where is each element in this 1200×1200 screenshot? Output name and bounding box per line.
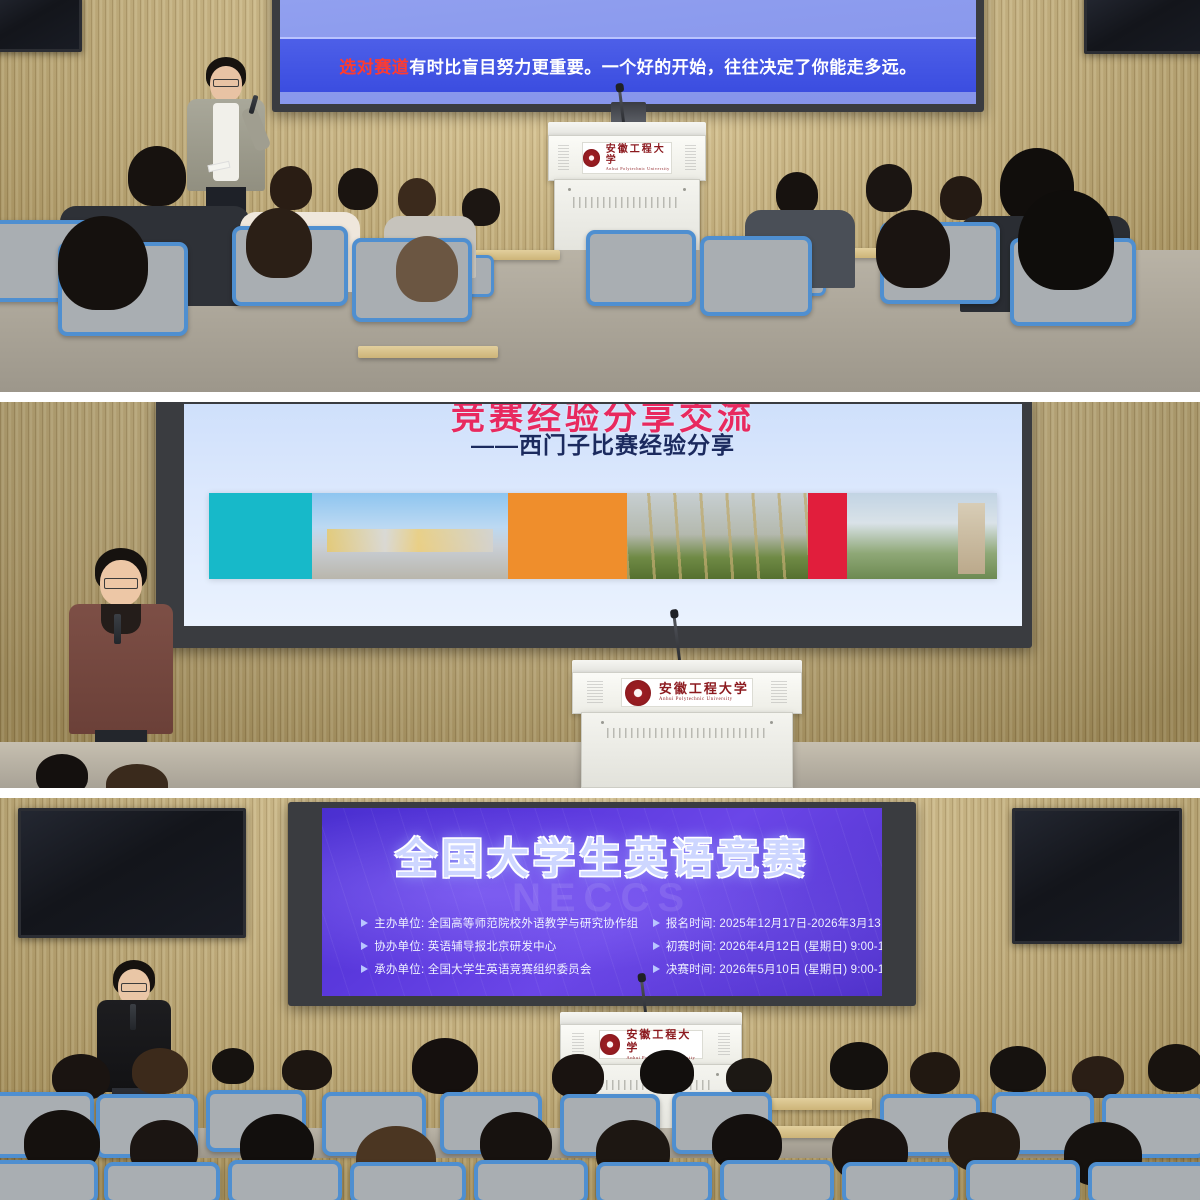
info-line: 报名时间: 2025年12月17日-2026年3月13日	[653, 915, 882, 931]
audience-panel3	[0, 1034, 1200, 1200]
podium-laptop	[611, 102, 646, 122]
audience-panel1	[0, 150, 1200, 392]
projector-screen-frame: 避免过热赛道，寻找 "蓝海" 机会点 考虑项目是否可持续，能否转化为毕 业设计、…	[272, 0, 984, 112]
projector-screen: NECCS 全国大学生英语竞赛 主办单位: 全国高等师范院校外语教学与研究协作组…	[322, 808, 882, 996]
seat	[228, 1160, 342, 1200]
audience-head	[128, 146, 186, 206]
audience-head	[940, 176, 982, 220]
strip-block-red	[808, 493, 847, 580]
seat	[586, 230, 696, 306]
presenter-glasses-icon	[121, 983, 147, 992]
audience-head	[398, 178, 436, 218]
seat	[350, 1162, 466, 1200]
audience-head	[876, 210, 950, 288]
seat	[842, 1162, 958, 1200]
slide-english-competition: NECCS 全国大学生英语竞赛 主办单位: 全国高等师范院校外语教学与研究协作组…	[322, 808, 882, 996]
panel-divider	[0, 788, 1200, 798]
strip-photo-campus-gate	[312, 493, 509, 580]
microphone-icon	[130, 1004, 136, 1030]
audience-head	[246, 208, 312, 278]
audience-head	[640, 1050, 694, 1094]
university-seal-icon	[625, 680, 651, 706]
photo-collage: 避免过热赛道，寻找 "蓝海" 机会点 考虑项目是否可持续，能否转化为毕 业设计、…	[0, 0, 1200, 1200]
university-name-en: Anhui Polytechnic University	[659, 697, 749, 703]
info-text: 承办单位: 全国大学生英语竞赛组织委员会	[374, 961, 591, 977]
campus-photo-strip	[209, 493, 997, 580]
podium-speaker-right	[771, 681, 787, 704]
projector-screen-frame: NECCS 全国大学生英语竞赛 主办单位: 全国高等师范院校外语教学与研究协作组…	[288, 802, 916, 1006]
slide-info-block: 主办单位: 全国高等师范院校外语教学与研究协作组 协办单位: 英语辅导报北京研发…	[361, 915, 843, 977]
strip-photo-bamboo	[627, 493, 808, 580]
slide-banner-highlight: 选对赛道	[339, 58, 409, 77]
seat	[700, 236, 812, 316]
podium-panel2: 安徽工程大学 Anhui Polytechnic University	[572, 660, 802, 788]
audience-head	[830, 1042, 888, 1090]
seat	[720, 1160, 834, 1200]
projector-screen-frame: 竞赛经验分享交流 ——西门子比赛经验分享	[156, 402, 1032, 648]
strip-photo-building	[847, 493, 997, 580]
audience-head	[338, 168, 378, 210]
seat	[1088, 1162, 1200, 1200]
slide-banner-text: 选对赛道有时比盲目努力更重要。一个好的开始，往往决定了你能走多远。	[339, 53, 917, 78]
presenter-glasses-icon	[104, 578, 138, 589]
audience-head	[212, 1048, 254, 1084]
triangle-right-icon	[361, 919, 368, 927]
audience-head	[1018, 190, 1114, 290]
slide-entrepreneurship: 避免过热赛道，寻找 "蓝海" 机会点 考虑项目是否可持续，能否转化为毕 业设计、…	[280, 0, 976, 104]
microphone-icon	[114, 614, 121, 644]
projector-screen: 竞赛经验分享交流 ——西门子比赛经验分享	[184, 404, 1022, 626]
podium-cabinet	[581, 712, 793, 788]
panel-english-competition: NECCS 全国大学生英语竞赛 主办单位: 全国高等师范院校外语教学与研究协作组…	[0, 798, 1200, 1200]
podium-nameplate: 安徽工程大学 Anhui Polytechnic University	[621, 678, 753, 707]
info-text: 主办单位: 全国高等师范院校外语教学与研究协作组	[374, 915, 638, 931]
info-text: 协办单位: 英语辅导报北京研发中心	[374, 938, 556, 954]
seat	[104, 1162, 220, 1200]
presenter-glasses-icon	[213, 79, 239, 87]
seat	[474, 1160, 588, 1200]
slide-siemens: 竞赛经验分享交流 ——西门子比赛经验分享	[184, 404, 1022, 626]
info-text: 决赛时间: 2026年5月10日 (星期日) 9:00-11:00	[666, 961, 882, 977]
panel-entrepreneurship-lecture: 避免过热赛道，寻找 "蓝海" 机会点 考虑项目是否可持续，能否转化为毕 业设计、…	[0, 0, 1200, 392]
triangle-right-icon	[653, 919, 660, 927]
side-monitor-left	[18, 808, 246, 938]
audience-head	[1148, 1044, 1200, 1092]
projector-screen: 避免过热赛道，寻找 "蓝海" 机会点 考虑项目是否可持续，能否转化为毕 业设计、…	[280, 0, 976, 104]
slide-title: 全国大学生英语竞赛	[322, 825, 882, 886]
audience-head	[726, 1058, 772, 1096]
slide-banner: 选对赛道有时比盲目努力更重要。一个好的开始，往往决定了你能走多远。	[280, 37, 976, 92]
triangle-right-icon	[361, 965, 368, 973]
info-line: 初赛时间: 2026年4月12日 (星期日) 9:00-11:00	[653, 938, 882, 954]
triangle-right-icon	[653, 942, 660, 950]
audience-head	[866, 164, 912, 212]
slide-banner-rest: 有时比盲目努力更重要。一个好的开始，往往决定了你能走多远。	[409, 58, 917, 77]
podium-dot-right	[770, 721, 773, 724]
side-monitor-right	[1084, 0, 1200, 54]
podium-speaker-left	[587, 681, 603, 704]
podium-dot-left	[601, 721, 604, 724]
side-monitor-right	[1012, 808, 1182, 944]
desk-row	[358, 346, 498, 358]
audience-head	[132, 1048, 188, 1094]
info-line: 主办单位: 全国高等师范院校外语教学与研究协作组	[361, 915, 638, 931]
slide-info-left: 主办单位: 全国高等师范院校外语教学与研究协作组 协办单位: 英语辅导报北京研发…	[361, 915, 638, 977]
side-monitor-left	[0, 0, 82, 52]
audience-head	[412, 1038, 478, 1094]
podium-vents	[607, 728, 766, 738]
audience-head	[552, 1054, 604, 1098]
audience-head	[58, 216, 148, 310]
audience-head	[282, 1050, 332, 1090]
info-line: 决赛时间: 2026年5月10日 (星期日) 9:00-11:00	[653, 961, 882, 977]
slide-columns: 避免过热赛道，寻找 "蓝海" 机会点 考虑项目是否可持续，能否转化为毕 业设计、…	[280, 0, 976, 14]
audience-head	[270, 166, 312, 210]
audience-head	[36, 754, 88, 788]
presenter-collar	[101, 604, 141, 634]
info-line: 承办单位: 全国大学生英语竞赛组织委员会	[361, 961, 638, 977]
audience-head	[396, 236, 458, 302]
slide-subtitle: ——西门子比赛经验分享	[184, 426, 1022, 460]
triangle-right-icon	[361, 942, 368, 950]
seat	[0, 1160, 98, 1200]
strip-block-teal	[209, 493, 311, 580]
info-text: 初赛时间: 2026年4月12日 (星期日) 9:00-11:00	[666, 938, 882, 954]
panel-siemens-sharing: 竞赛经验分享交流 ——西门子比赛经验分享	[0, 402, 1200, 788]
audience-head	[990, 1046, 1046, 1092]
slide-info-right: 报名时间: 2025年12月17日-2026年3月13日 初赛时间: 2026年…	[653, 915, 882, 977]
info-line: 协办单位: 英语辅导报北京研发中心	[361, 938, 638, 954]
info-text: 报名时间: 2025年12月17日-2026年3月13日	[666, 915, 882, 931]
triangle-right-icon	[653, 965, 660, 973]
university-name-cn: 安徽工程大学	[659, 682, 749, 697]
podium-front-panel: 安徽工程大学 Anhui Polytechnic University	[572, 672, 802, 714]
panel-divider	[0, 392, 1200, 402]
audience-head	[910, 1052, 960, 1094]
seat	[596, 1162, 712, 1200]
seat	[966, 1160, 1080, 1200]
strip-block-orange	[508, 493, 626, 580]
